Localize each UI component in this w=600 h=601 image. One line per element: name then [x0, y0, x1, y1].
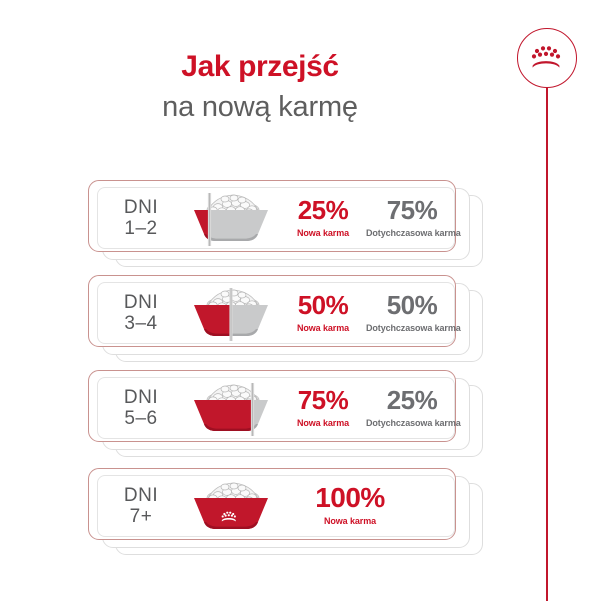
step-card[interactable]: DNI 5–6 [97, 377, 455, 439]
infographic-page: Jak przejść na nową karmę DNI 1–2 [0, 0, 600, 600]
step-card[interactable]: DNI 3–4 [97, 282, 455, 344]
old-food-percent-label: Dotychczasowa karma [366, 227, 458, 240]
old-food-percent-group: 50% Dotychczasowa karma [366, 291, 458, 335]
new-food-percent-label: Nowa karma [284, 417, 362, 430]
old-food-percent-value: 50% [366, 291, 458, 319]
new-food-percent-label: Nowa karma [284, 227, 362, 240]
transition-step-row: DNI 1–2 [88, 180, 488, 268]
days-range: 7+ [98, 506, 184, 527]
dog-bowl-three-quarter-red-icon [184, 380, 278, 436]
percent-cell: 50% Nowa karma 50% Dotychczasowa karma [278, 283, 458, 343]
days-label: DNI 5–6 [98, 387, 184, 429]
days-word: DNI [98, 197, 184, 218]
dog-bowl-full-red-crown-icon [184, 478, 278, 534]
old-food-percent-group: 25% Dotychczasowa karma [366, 386, 458, 430]
new-food-percent-label: Nowa karma [286, 515, 414, 528]
days-label: DNI 3–4 [98, 292, 184, 334]
percent-cell: 25% Nowa karma 75% Dotychczasowa karma [278, 188, 458, 248]
new-food-percent-group: 25% Nowa karma [284, 196, 362, 240]
transition-step-row: DNI 3–4 [88, 275, 488, 363]
transition-step-row: DNI 5–6 [88, 370, 488, 458]
days-word: DNI [98, 485, 184, 506]
new-food-percent-value: 100% [286, 484, 414, 512]
dog-bowl-quarter-red-icon [184, 190, 278, 246]
dog-bowl-half-red-icon [184, 285, 278, 341]
days-range: 1–2 [98, 218, 184, 239]
days-range: 5–6 [98, 408, 184, 429]
old-food-percent-label: Dotychczasowa karma [366, 322, 458, 335]
days-label: DNI 7+ [98, 485, 184, 527]
old-food-percent-group: 75% Dotychczasowa karma [366, 196, 458, 240]
transition-steps-list: DNI 1–2 [0, 0, 600, 600]
days-label: DNI 1–2 [98, 197, 184, 239]
percent-cell: 75% Nowa karma 25% Dotychczasowa karma [278, 378, 458, 438]
days-word: DNI [98, 387, 184, 408]
old-food-percent-value: 25% [366, 386, 458, 414]
old-food-percent-value: 75% [366, 196, 458, 224]
new-food-percent-group: 50% Nowa karma [284, 291, 362, 335]
new-food-percent-value: 50% [284, 291, 362, 319]
new-food-percent-group: 100% Nowa karma [286, 484, 414, 528]
new-food-percent-value: 25% [284, 196, 362, 224]
step-card[interactable]: DNI 7+ [97, 475, 455, 537]
percent-cell: 100% Nowa karma [278, 476, 454, 536]
days-range: 3–4 [98, 313, 184, 334]
new-food-percent-label: Nowa karma [284, 322, 362, 335]
days-word: DNI [98, 292, 184, 313]
transition-step-row: DNI 7+ [88, 468, 488, 556]
new-food-percent-group: 75% Nowa karma [284, 386, 362, 430]
step-card[interactable]: DNI 1–2 [97, 187, 455, 249]
new-food-percent-value: 75% [284, 386, 362, 414]
old-food-percent-label: Dotychczasowa karma [366, 417, 458, 430]
